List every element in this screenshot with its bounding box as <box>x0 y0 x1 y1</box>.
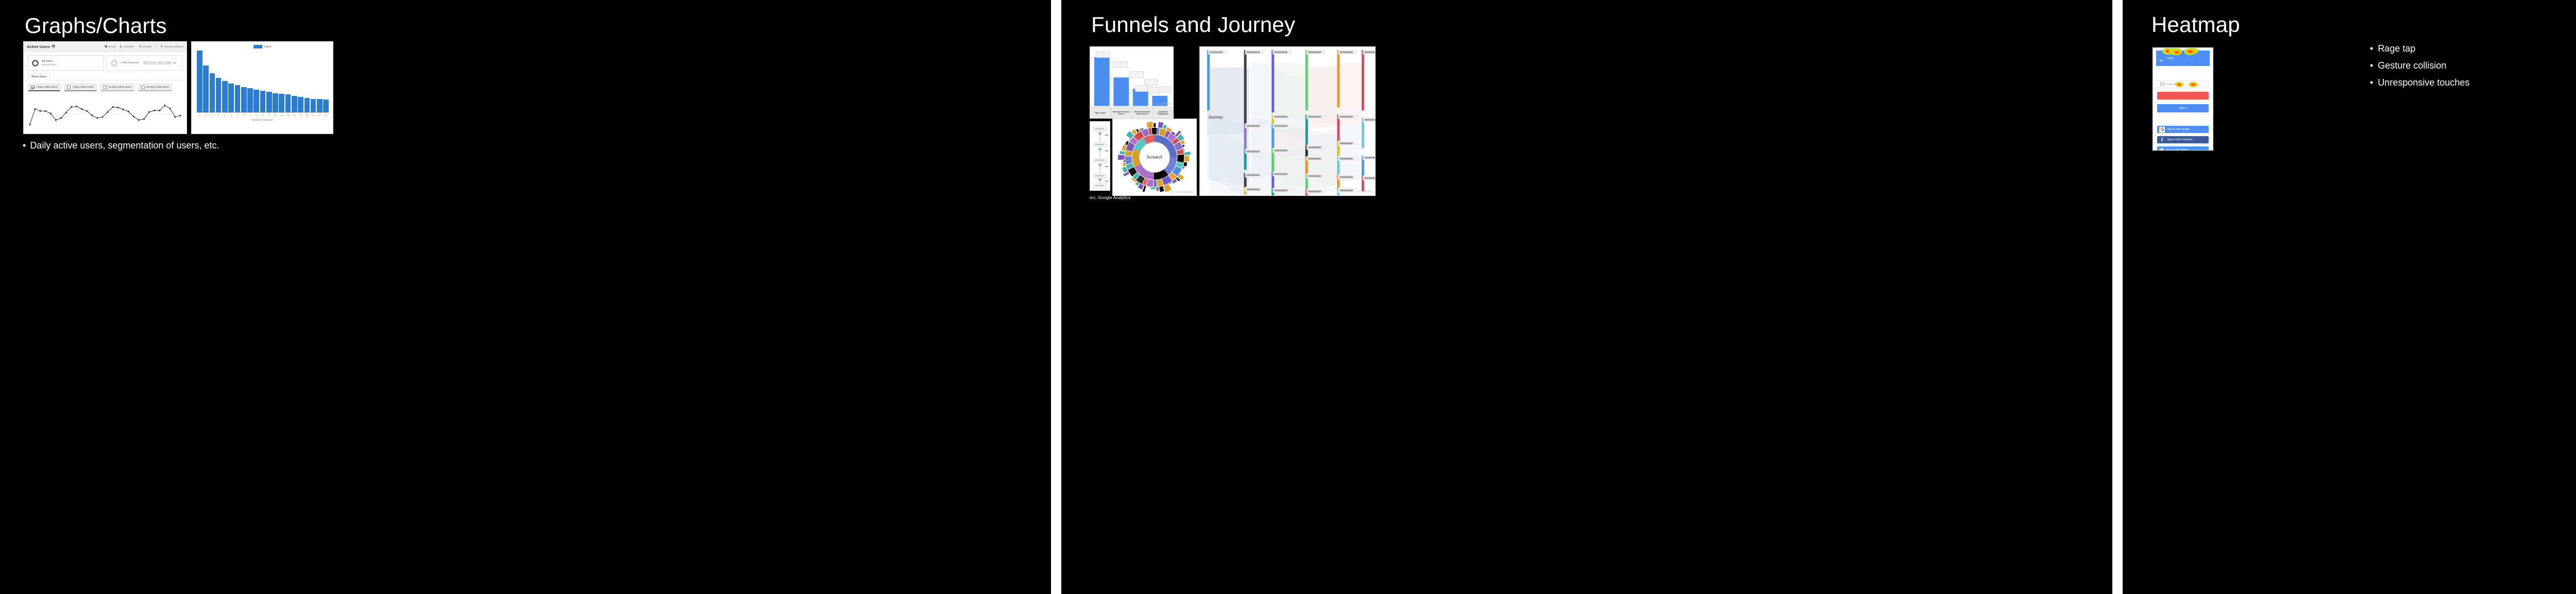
bar <box>285 94 291 112</box>
tree-source-label: src. Google Analytics <box>1090 195 1130 200</box>
google-label: Sign in with Google <box>2167 128 2190 131</box>
save-button[interactable]: SAVE <box>105 45 115 48</box>
data-point <box>159 110 160 111</box>
slide-divider <box>2112 0 2123 594</box>
date-range-picker[interactable] <box>143 61 178 64</box>
sankey-node-label-text <box>1308 146 1321 148</box>
sunburst-segment <box>1158 122 1164 128</box>
data-point <box>117 107 119 108</box>
sankey-node-label-text <box>1308 158 1321 159</box>
list-item: •Gesture collision <box>2370 60 2469 71</box>
sankey-node-label-text <box>1247 151 1260 152</box>
bullet-dot: • <box>2370 43 2373 54</box>
data-point <box>40 110 41 112</box>
x-tick-label: 16 <box>292 114 297 117</box>
share-icon <box>139 45 142 48</box>
intelligence-button[interactable]: INTELLIGENCE <box>160 45 183 48</box>
save-label: SAVE <box>109 45 115 48</box>
donut-icon <box>32 60 39 67</box>
x-tick-label: 21 <box>323 114 329 117</box>
sankey-node-label-text <box>1340 158 1353 159</box>
ga-toolbar: SAVE EXPORT SHARE INTELLIGENCE <box>105 44 183 49</box>
data-point <box>143 118 145 120</box>
sunburst-segment <box>1182 145 1185 147</box>
bullet-text: Unresponsive touches <box>2378 77 2469 88</box>
sunburst-segment <box>1156 187 1159 191</box>
bullet-dot: • <box>2370 60 2373 71</box>
funnel-stage-label: Password Creation Screen <box>1111 107 1132 119</box>
bullet-dot: • <box>23 140 26 151</box>
segment-name: All Users <box>42 60 57 63</box>
funnel-badge <box>1159 86 1172 93</box>
email-placeholder: Email address <box>2166 83 2183 86</box>
bar-chart-plot <box>197 51 329 113</box>
data-point <box>76 106 77 107</box>
x-tick-label: 10 <box>253 114 259 117</box>
metric-checkbox-row: 1 Day Active Users 7 Day Active Users 14… <box>24 80 187 91</box>
bar <box>266 92 272 112</box>
bar <box>317 99 323 112</box>
sankey-node-label-text <box>1308 175 1321 177</box>
sankey-node-label-text <box>1274 51 1287 53</box>
email-field[interactable]: Email address <box>2157 80 2209 88</box>
envelope-icon <box>2160 82 2164 86</box>
sankey-node[interactable] <box>1272 50 1274 112</box>
data-point <box>169 108 171 109</box>
bullet-dot: • <box>2370 77 2373 88</box>
export-button[interactable]: EXPORT <box>120 45 134 48</box>
checkbox-1-day-active-users[interactable]: 1 Day Active Users <box>28 84 60 91</box>
bar <box>323 100 329 112</box>
x-tick-label: 15 <box>285 114 291 117</box>
sunburst-segment <box>1136 129 1139 133</box>
sankey-node-label-text <box>1340 190 1353 191</box>
data-point <box>45 110 46 112</box>
sunburst-segment <box>1150 187 1156 189</box>
twitter-label: Sign in with Twitter <box>2166 148 2188 151</box>
data-point <box>96 117 98 119</box>
x-tick-label: 5 <box>222 114 228 117</box>
sankey-node-label-text <box>1340 142 1353 144</box>
data-point <box>133 115 134 117</box>
sunburst-chart-card: ScreenX src. ContentSquare <box>1112 119 1197 196</box>
sign-in-with-facebook-button[interactable]: f Sign in with Facebook <box>2157 136 2209 143</box>
x-tick-label: 19 <box>311 114 316 117</box>
x-tick-label: 3 <box>210 114 215 117</box>
slide-funnels-journey[interactable]: Funnels and Journey <box>1061 0 2112 594</box>
sankey-node-label-text <box>1364 119 1375 121</box>
sunburst-segment <box>1147 186 1150 187</box>
bar <box>260 91 266 112</box>
sunburst-segment <box>1182 167 1184 169</box>
funnel-source-label: src. UXCam <box>1157 103 1171 106</box>
checkbox-label: 14 Day Active Users <box>109 86 131 89</box>
sunburst-segment <box>1120 151 1125 155</box>
sunburst-segment <box>1123 163 1126 167</box>
sunburst-segment <box>1122 145 1127 151</box>
x-axis-title: Number of Sessions <box>192 119 333 121</box>
bar <box>311 99 316 112</box>
sankey-node-label-text <box>1247 189 1260 190</box>
facebook-label: Sign in with Facebook <box>2167 138 2193 141</box>
sankey-node[interactable] <box>1337 50 1340 107</box>
data-point <box>55 119 57 121</box>
checkbox-icon <box>67 86 71 89</box>
data-point <box>86 110 88 112</box>
x-tick-label: 11 <box>260 114 266 117</box>
sunburst-source-label: src. ContentSquare <box>1172 191 1194 194</box>
share-label: SHARE <box>143 45 151 48</box>
list-item: •Rage tap <box>2370 43 2469 54</box>
x-tick-label: 1 <box>197 114 202 117</box>
ga-panel-title: Active Users <box>27 44 50 49</box>
donut-outline-icon <box>111 60 117 67</box>
x-tick-label: 8 <box>241 114 247 117</box>
behavior-flow-tree-card <box>1090 121 1110 191</box>
x-tick-label: 17 <box>298 114 303 117</box>
sankey-node-label-text <box>1247 174 1260 176</box>
ga-header: Active Users SAVE EXPORT SHARE <box>24 42 187 52</box>
app-bar-title: Login <box>2166 57 2173 60</box>
export-label: EXPORT <box>124 45 134 48</box>
data-point <box>107 111 108 113</box>
sign-in-with-google-button[interactable]: Sign in with Google <box>2157 126 2209 133</box>
sankey-node-label-text <box>1340 176 1353 178</box>
sunburst-segment <box>1154 180 1157 187</box>
segment-row: All Users 100.00% Users + Add Segment <box>24 52 187 73</box>
shield-check-icon <box>52 44 55 48</box>
intelligence-icon <box>160 45 163 48</box>
funnel-badge <box>1096 51 1110 58</box>
data-point <box>34 108 36 110</box>
checkbox-icon <box>104 86 107 89</box>
data-point <box>112 106 114 108</box>
x-tick-label: 6 <box>228 114 234 117</box>
phone-source-label: src. UXCam <box>2196 143 2209 145</box>
tab-active-users[interactable]: Active Users <box>28 73 50 80</box>
sign-in-label: Sign in <box>2179 107 2187 110</box>
heatmap-bullet-list: •Rage tap •Gesture collision •Unresponsi… <box>2370 43 2469 94</box>
sunburst-segment <box>1180 140 1185 145</box>
save-icon <box>105 45 108 48</box>
sankey-node-label-text <box>1364 177 1375 179</box>
sunburst-segment <box>1136 181 1140 186</box>
bar <box>253 90 259 112</box>
data-point <box>138 119 140 121</box>
data-point <box>174 116 176 118</box>
bar <box>235 85 241 112</box>
funnel-badge <box>1144 79 1158 86</box>
journey-source-label: src. UXCam <box>1358 190 1372 193</box>
x-tick-label: 9 <box>247 114 253 117</box>
checkbox-14-day-active-users[interactable]: 14 Day Active Users <box>100 84 134 91</box>
sankey-node-label-text <box>1274 173 1287 175</box>
sankey-node-label-text <box>1308 51 1321 53</box>
data-point <box>71 106 72 108</box>
funnel-chart-card: src. UXCam App LaunchPassword Creation S… <box>1090 46 1174 119</box>
line-chart-svg <box>29 95 181 134</box>
sankey-node-label-text <box>1247 125 1260 126</box>
data-point <box>154 110 155 111</box>
checkbox-28-day-active-users[interactable]: 28 Day Active Users <box>138 84 172 91</box>
legend-label-users: Users <box>264 45 272 48</box>
sunburst-segment <box>1183 162 1187 167</box>
sunburst-center-label: ScreenX <box>1113 155 1196 160</box>
data-point <box>65 112 67 113</box>
funnel-stage-labels: App LaunchPassword Creation ScreenOther … <box>1090 107 1173 119</box>
bar <box>241 87 247 112</box>
data-point <box>148 111 150 113</box>
sign-in-with-twitter-button[interactable]: Sign in with Twitter <box>2157 146 2209 151</box>
checkbox-label: 7 Day Active Users <box>72 86 93 89</box>
sunburst-segment <box>1138 184 1144 190</box>
checkbox-7-day-active-users[interactable]: 7 Day Active Users <box>64 84 96 91</box>
bar <box>298 97 303 112</box>
checkbox-icon <box>31 86 35 89</box>
password-field-error[interactable] <box>2157 92 2209 100</box>
list-item: •Unresponsive touches <box>2370 77 2469 88</box>
line-series <box>30 106 180 125</box>
x-tick-label: 14 <box>279 114 284 117</box>
bullet-text: Daily active users, segmentation of user… <box>30 140 219 151</box>
slide-divider <box>1051 0 1061 594</box>
sankey-node-label-text <box>1364 157 1375 158</box>
data-point <box>123 109 124 110</box>
share-button[interactable]: SHARE <box>139 45 151 48</box>
slide-graphs-charts[interactable]: Graphs/Charts Active Users SAVE EXPORT <box>0 0 1051 594</box>
sunburst-segment <box>1159 186 1164 192</box>
sankey-node-label-text <box>1308 191 1321 192</box>
data-point <box>101 116 103 118</box>
bar <box>279 94 284 112</box>
google-icon <box>2159 127 2165 133</box>
funnel-stage-label: Completed Registration <box>1153 107 1174 119</box>
heat-blob <box>2189 82 2198 87</box>
funnel-plot: src. UXCam <box>1090 47 1173 107</box>
bar-chart-x-ticks: 123456789101112131415161718192021 <box>197 114 329 117</box>
sunburst-segment <box>1164 184 1172 192</box>
bar <box>304 98 310 112</box>
sankey-node[interactable] <box>1207 50 1210 110</box>
funnel-stage-label: App Launch <box>1090 107 1111 119</box>
sunburst-segment <box>1151 128 1157 135</box>
legend-swatch-users <box>253 45 262 48</box>
data-point <box>164 105 165 106</box>
x-tick-label: 7 <box>235 114 241 117</box>
phone-mockup: Login Email address Sign in Sign in <box>2153 47 2213 151</box>
slide-heatmap[interactable]: Heatmap Login Email address Sign in <box>2123 0 2576 594</box>
sankey-node-label-text <box>1274 125 1287 126</box>
toolbar-divider <box>156 44 156 49</box>
data-point <box>128 111 129 112</box>
data-point <box>50 113 52 114</box>
chart-legend: Users <box>192 42 333 48</box>
page-title: Funnels and Journey <box>1091 12 1295 37</box>
x-tick-label: 12 <box>266 114 272 117</box>
x-tick-label: 13 <box>273 114 278 117</box>
segment-all-users[interactable]: All Users 100.00% Users <box>28 55 104 71</box>
data-point <box>29 124 30 125</box>
slide-strip: Graphs/Charts Active Users SAVE EXPORT <box>0 0 2576 594</box>
funnel-badge <box>1113 61 1128 68</box>
facebook-icon: f <box>2159 137 2165 143</box>
sankey-node-label-text <box>1274 190 1287 191</box>
bar <box>216 78 222 112</box>
funnel-stage-label: Other Membership Club Screens <box>1132 107 1153 119</box>
sankey-node-label-text <box>1340 116 1353 118</box>
data-point <box>91 114 93 116</box>
date-range-end <box>158 61 172 64</box>
data-point <box>60 117 62 119</box>
sankey-node-label-text <box>1274 150 1287 151</box>
bar <box>203 65 209 112</box>
app-bar: Login <box>2156 51 2210 66</box>
bar <box>292 96 297 112</box>
chevron-down-icon <box>173 62 176 64</box>
bar <box>222 81 228 112</box>
sankey-node[interactable] <box>1306 50 1308 110</box>
checkbox-label: 1 Day Active Users <box>36 86 57 89</box>
bar <box>197 51 202 112</box>
sankey-node-label-text <box>1340 51 1353 53</box>
sankey-node[interactable] <box>1362 50 1364 110</box>
google-analytics-panel: Active Users SAVE EXPORT SHARE <box>23 41 187 134</box>
add-segment-label: + Add Segment <box>121 61 139 64</box>
add-segment-button[interactable]: + Add Segment <box>107 55 183 71</box>
active-users-line-chart <box>29 95 181 134</box>
data-point <box>179 114 181 116</box>
sunburst-segment <box>1163 125 1167 129</box>
checkbox-label: 28 Day Active Users <box>146 86 169 89</box>
sankey-node-label-text <box>1247 51 1260 53</box>
bar <box>210 73 215 112</box>
bar <box>228 84 234 112</box>
sankey-node-label-text <box>1308 116 1321 118</box>
intelligence-label: INTELLIGENCE <box>164 45 183 48</box>
arrow-left-icon[interactable] <box>2159 56 2164 61</box>
slide-bullet: •Daily active users, segmentation of use… <box>23 140 219 151</box>
data-point <box>81 108 82 110</box>
checkbox-icon <box>141 86 145 89</box>
sankey-ribbon <box>1210 172 1249 195</box>
bar <box>273 93 278 112</box>
tree-svg <box>1090 122 1110 190</box>
sign-in-button[interactable]: Sign in <box>2157 104 2209 112</box>
segment-sub: 100.00% Users <box>42 63 57 67</box>
journey-label: Journey <box>1208 115 1223 120</box>
date-range-start <box>143 61 157 64</box>
export-icon <box>120 45 123 48</box>
funnel-badge <box>1129 71 1144 78</box>
sunburst-segment <box>1156 128 1160 135</box>
bullet-text: Rage tap <box>2378 43 2415 54</box>
twitter-icon <box>2159 145 2164 151</box>
funnel-badge <box>1135 85 1148 92</box>
page-title: Graphs/Charts <box>25 13 167 38</box>
sankey-node-label-text <box>1274 116 1287 118</box>
sunburst-segment <box>1146 179 1153 187</box>
bar <box>247 88 253 112</box>
tab-bar: Active Users <box>24 73 187 80</box>
sunburst-segment <box>1154 123 1156 127</box>
sunburst-segment <box>1146 122 1153 128</box>
x-tick-label: 20 <box>317 114 323 117</box>
x-tick-label: 2 <box>203 114 209 117</box>
sessions-bar-chart-panel: Users 123456789101112131415161718192021 … <box>191 41 333 134</box>
sankey-svg <box>1200 47 1375 195</box>
journey-sankey-card: Journey src. UXCam <box>1199 46 1376 196</box>
sunburst-segment <box>1124 160 1125 162</box>
bullet-text: Gesture collision <box>2378 60 2446 71</box>
x-tick-label: 18 <box>304 114 310 117</box>
sankey-node-label-text <box>1210 51 1223 53</box>
sankey-node-label-text <box>1364 51 1375 53</box>
page-title: Heatmap <box>2151 12 2240 37</box>
x-tick-label: 4 <box>216 114 222 117</box>
